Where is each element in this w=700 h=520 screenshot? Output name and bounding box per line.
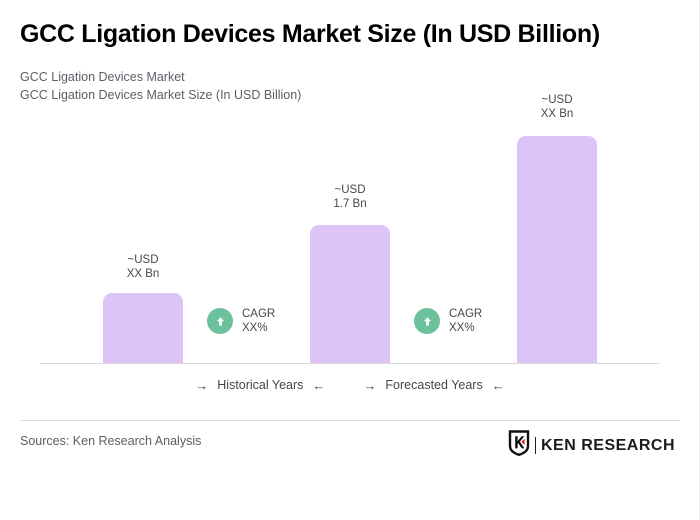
period-forecasted-years: → Forecasted Years ← xyxy=(363,378,504,392)
bar-value-label-3: ~USD XX Bn xyxy=(497,93,617,121)
period-historical-years: → Historical Years ← xyxy=(195,378,325,392)
logo-wordmark: KEN RESEARCH xyxy=(541,438,675,454)
ken-research-shield-icon xyxy=(508,430,530,461)
bar-value-label-2: ~USD 1.7 Bn xyxy=(290,183,410,211)
plot-area: ~USD XX Bn CAGR XX% ~USD 1.7 Bn CAGR XX% xyxy=(0,0,700,400)
axis-baseline xyxy=(40,363,660,364)
period-legend: → Historical Years ← → Forecasted Years … xyxy=(40,378,660,392)
footer-divider xyxy=(20,420,680,421)
arrow-up-icon xyxy=(207,308,233,334)
cagr-label-historical: CAGR XX% xyxy=(242,307,275,335)
arrow-up-icon xyxy=(414,308,440,334)
bar-value-label-1: ~USD XX Bn xyxy=(83,253,203,281)
ken-research-logo: KEN RESEARCH xyxy=(508,430,675,461)
bar-3-forecast xyxy=(517,136,597,363)
chart-canvas: GCC Ligation Devices Market Size (In USD… xyxy=(0,0,700,520)
arrow-right-icon: → xyxy=(363,379,376,392)
bar-2-base xyxy=(310,225,390,363)
sources-note: Sources: Ken Research Analysis xyxy=(20,434,201,448)
logo-divider xyxy=(535,437,536,454)
period-forecasted-label: Forecasted Years xyxy=(385,378,482,392)
cagr-badge-historical: CAGR XX% xyxy=(207,307,275,335)
arrow-right-icon: → xyxy=(195,379,208,392)
arrow-left-icon: ← xyxy=(312,379,325,392)
cagr-label-forecast: CAGR XX% xyxy=(449,307,482,335)
period-historical-label: Historical Years xyxy=(217,378,303,392)
bar-1-historical xyxy=(103,293,183,363)
arrow-left-icon: ← xyxy=(492,379,505,392)
cagr-badge-forecast: CAGR XX% xyxy=(414,307,482,335)
